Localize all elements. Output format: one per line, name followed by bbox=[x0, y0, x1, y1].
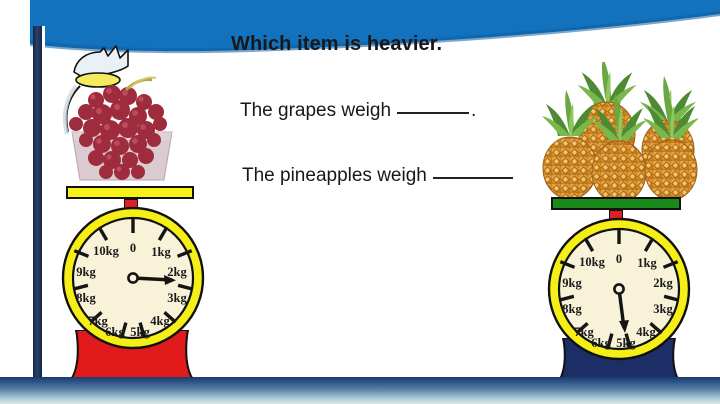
svg-text:6kg: 6kg bbox=[591, 336, 611, 350]
svg-text:10kg: 10kg bbox=[93, 244, 119, 258]
question-line-grapes: The grapes weigh . bbox=[240, 100, 476, 122]
svg-text:4kg: 4kg bbox=[150, 314, 170, 328]
svg-text:6kg: 6kg bbox=[105, 325, 125, 339]
left-accent-bar-highlight bbox=[42, 26, 45, 378]
svg-text:4kg: 4kg bbox=[636, 325, 656, 339]
svg-text:2kg: 2kg bbox=[167, 265, 187, 279]
left-scale-platform bbox=[66, 186, 194, 199]
right-scale-dial: 0 1kg 2kg 3kg 4kg 5kg 6kg 7kg 8kg 9kg 10… bbox=[546, 216, 692, 366]
slide-canvas: Which item is heavier. The grapes weigh … bbox=[0, 0, 720, 404]
pineapples-illustration bbox=[541, 62, 703, 202]
question-grapes-prefix: The grapes weigh bbox=[240, 100, 391, 122]
svg-text:1kg: 1kg bbox=[151, 245, 171, 259]
left-accent-bar bbox=[33, 26, 42, 378]
footer-gradient-band bbox=[0, 377, 720, 404]
svg-text:7kg: 7kg bbox=[88, 314, 108, 328]
question-grapes-suffix: . bbox=[471, 100, 476, 122]
svg-text:7kg: 7kg bbox=[574, 325, 594, 339]
left-scale-dial: 0 1kg 2kg 3kg 4kg 5kg 6kg 7kg 8kg 9kg 10… bbox=[60, 205, 206, 355]
answer-blank-pineapples[interactable] bbox=[433, 177, 513, 179]
svg-text:0: 0 bbox=[130, 241, 136, 255]
question-line-pineapples: The pineapples weigh bbox=[242, 165, 515, 187]
question-pineapples-prefix: The pineapples weigh bbox=[242, 165, 427, 187]
svg-text:3kg: 3kg bbox=[167, 291, 187, 305]
svg-text:5kg: 5kg bbox=[616, 336, 636, 350]
svg-text:9kg: 9kg bbox=[76, 265, 96, 279]
svg-text:10kg: 10kg bbox=[579, 255, 605, 269]
svg-text:3kg: 3kg bbox=[653, 302, 673, 316]
answer-blank-grapes[interactable] bbox=[397, 112, 469, 114]
grapes-illustration bbox=[56, 40, 188, 190]
page-title: Which item is heavier. bbox=[231, 33, 442, 56]
svg-text:2kg: 2kg bbox=[653, 276, 673, 290]
svg-text:8kg: 8kg bbox=[76, 291, 96, 305]
svg-text:1kg: 1kg bbox=[637, 256, 657, 270]
svg-text:8kg: 8kg bbox=[562, 302, 582, 316]
svg-text:5kg: 5kg bbox=[130, 325, 150, 339]
right-scale-platform bbox=[551, 197, 681, 210]
svg-text:9kg: 9kg bbox=[562, 276, 582, 290]
svg-text:0: 0 bbox=[616, 252, 622, 266]
